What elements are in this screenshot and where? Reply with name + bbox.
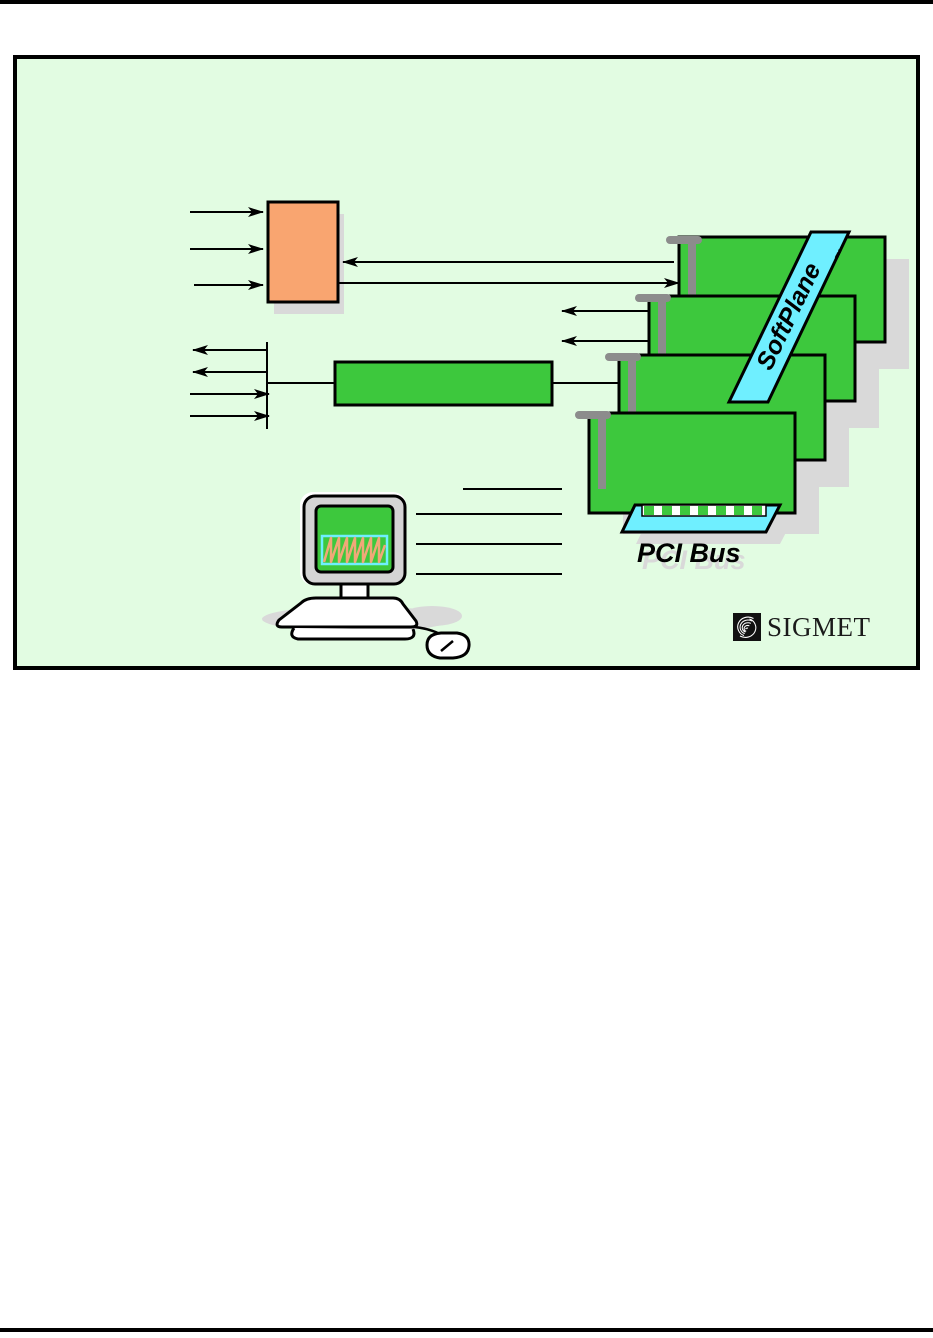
monitor-base	[277, 598, 417, 627]
sigmet-spiral-icon	[733, 613, 761, 641]
page-top-rule	[0, 0, 933, 4]
signal-processor-box	[268, 202, 338, 302]
interface-module-group	[267, 362, 624, 405]
figure-frame: SoftPlane ™ PCI Bus PCI Bus	[13, 55, 920, 670]
page-root: SoftPlane ™ PCI Bus PCI Bus	[0, 0, 933, 1338]
keyboard-tray	[292, 628, 414, 639]
signal-processor-group	[268, 202, 344, 314]
pci-bus-connector: PCI Bus PCI Bus	[622, 505, 794, 575]
system-architecture-diagram: SoftPlane ™ PCI Bus PCI Bus	[17, 59, 916, 666]
orange-to-card-links	[338, 262, 679, 283]
input-arrow-group	[190, 212, 263, 285]
monitor-neck	[341, 584, 368, 598]
page-bottom-rule	[0, 1328, 933, 1332]
sigmet-logo: SIGMET	[733, 613, 871, 641]
callout-line-group	[416, 489, 562, 574]
pci-card-4[interactable]	[589, 413, 795, 513]
sigmet-wordmark: SIGMET	[767, 614, 871, 641]
pci-bus-label: PCI Bus	[637, 538, 741, 568]
interface-module-box	[335, 362, 552, 405]
pci-bus-pins	[642, 505, 766, 516]
bus-arrow-group	[190, 342, 269, 429]
card-output-arrow-group	[562, 311, 651, 341]
